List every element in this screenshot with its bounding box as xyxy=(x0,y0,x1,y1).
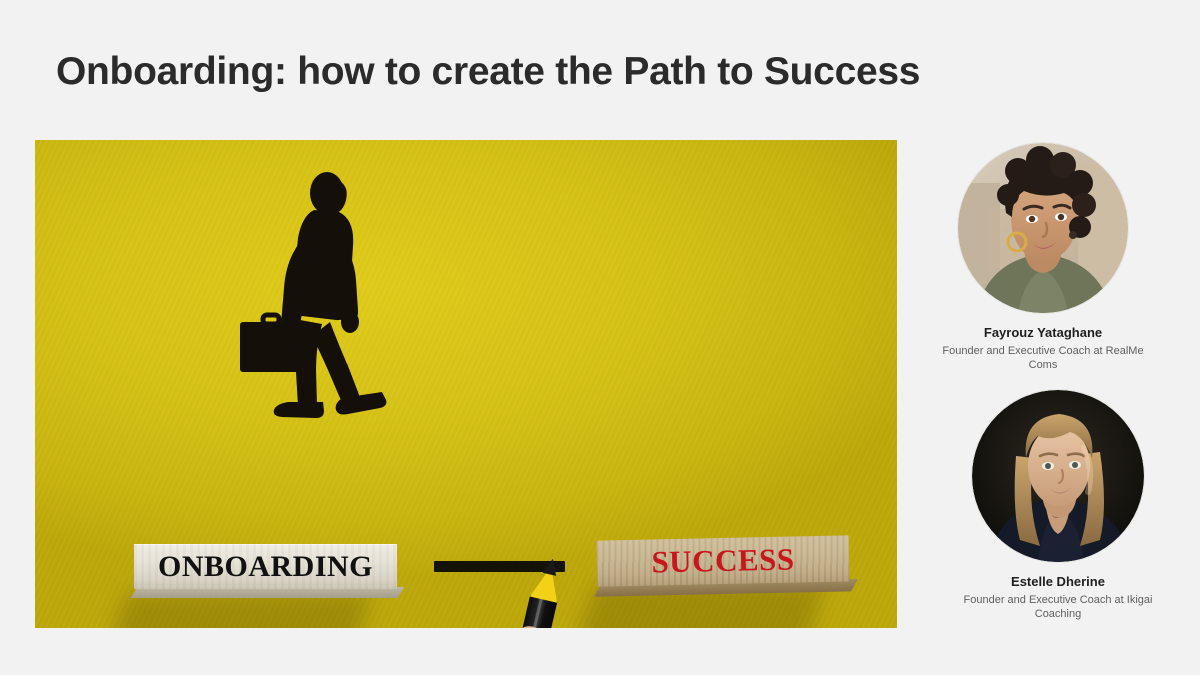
success-block-label: SUCCESS xyxy=(597,535,850,586)
onboarding-wooden-block: ONBOARDING xyxy=(134,544,397,589)
hero-image: ONBOARDING SUCCESS xyxy=(35,140,897,628)
speaker-name: Estelle Dherine xyxy=(942,574,1174,591)
speaker-role: Founder and Executive Coach at RealMe Co… xyxy=(927,344,1159,373)
hand-holding-pencil xyxy=(433,614,723,628)
page-title: Onboarding: how to create the Path to Su… xyxy=(56,50,1146,95)
businessman-silhouette-icon xyxy=(230,170,410,420)
avatar-portrait-1 xyxy=(972,390,1144,562)
onboarding-block-label: ONBOARDING xyxy=(134,544,397,589)
avatar-portrait-0 xyxy=(958,143,1128,313)
speaker-card-1: Estelle Dherine Founder and Executive Co… xyxy=(942,390,1174,622)
speaker-card-0: Fayrouz Yataghane Founder and Executive … xyxy=(927,143,1159,373)
finger xyxy=(488,623,582,628)
speaker-name: Fayrouz Yataghane xyxy=(927,325,1159,342)
avatar xyxy=(972,390,1144,562)
success-wooden-block: SUCCESS xyxy=(597,535,850,586)
speaker-role: Founder and Executive Coach at Ikigai Co… xyxy=(942,593,1174,622)
avatar xyxy=(958,143,1128,313)
